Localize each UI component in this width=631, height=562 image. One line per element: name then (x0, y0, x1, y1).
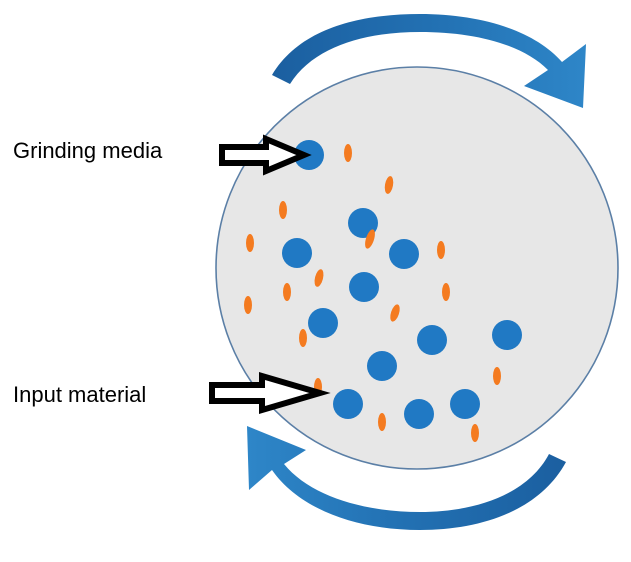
media-ball (417, 325, 447, 355)
media-ball (389, 239, 419, 269)
feed-particle (299, 329, 307, 347)
media-ball (450, 389, 480, 419)
feed-particle (244, 296, 252, 314)
media-ball (367, 351, 397, 381)
media-ball (404, 399, 434, 429)
input-material-label: Input material (13, 382, 146, 408)
feed-particle (283, 283, 291, 301)
feed-particle (471, 424, 479, 442)
grinding-media-label: Grinding media (13, 138, 162, 164)
feed-particle (442, 283, 450, 301)
ball-mill-diagram: Grinding media Input material (0, 0, 631, 562)
feed-particle (344, 144, 352, 162)
media-ball (349, 272, 379, 302)
feed-particle (246, 234, 254, 252)
media-ball (333, 389, 363, 419)
media-ball (492, 320, 522, 350)
feed-particle (493, 367, 501, 385)
media-ball (282, 238, 312, 268)
feed-particle (378, 413, 386, 431)
feed-particle (279, 201, 287, 219)
feed-particle (437, 241, 445, 259)
mill-illustration (0, 0, 631, 562)
media-ball (308, 308, 338, 338)
